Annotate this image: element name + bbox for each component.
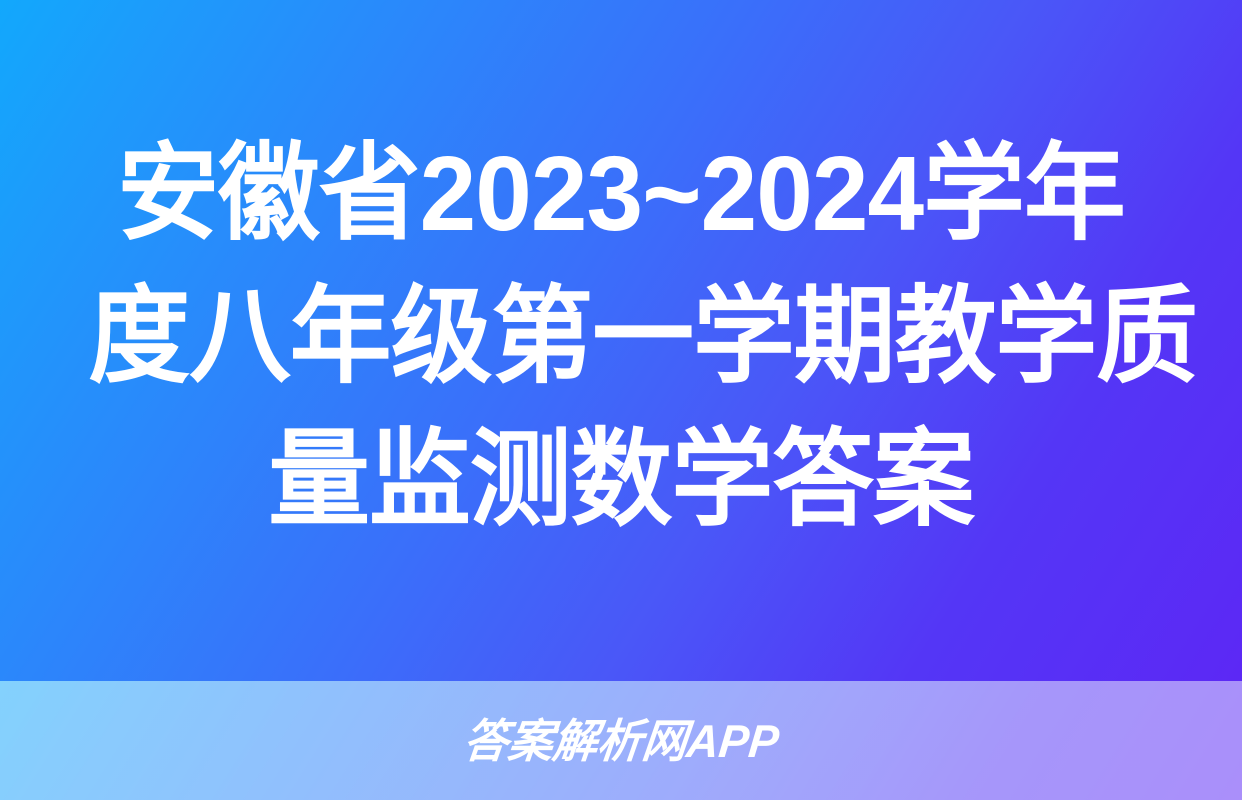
app-watermark-label: 答案解析网APP — [461, 716, 781, 766]
hero-gradient-banner: 安徽省2023~2024学年 度八年级第一学期教学质 量监测数学答案 — [0, 0, 1242, 681]
title-line-3: 量监测数学答案 — [88, 409, 1154, 552]
title-line-2: 度八年级第一学期教学质 — [88, 266, 1154, 409]
title-line-1: 安徽省2023~2024学年 — [88, 123, 1154, 266]
poster-canvas: 安徽省2023~2024学年 度八年级第一学期教学质 量监测数学答案 答案解析网… — [0, 0, 1242, 800]
poster-title: 安徽省2023~2024学年 度八年级第一学期教学质 量监测数学答案 — [66, 123, 1176, 558]
footer-watermark-band: 答案解析网APP — [0, 681, 1242, 800]
